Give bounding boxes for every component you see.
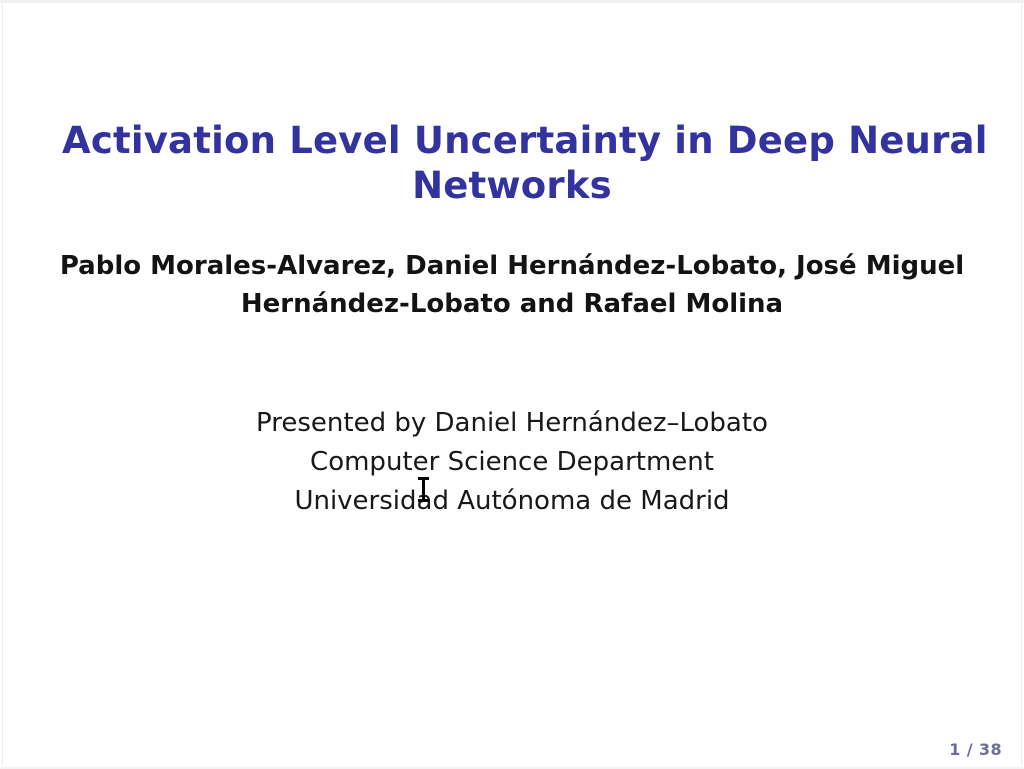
slide-top-edge xyxy=(0,0,1024,3)
slide-right-edge xyxy=(1021,3,1022,765)
slide-authors: Pablo Morales-Alvarez, Daniel Hernández-… xyxy=(32,247,992,323)
presenter-name-line: Presented by Daniel Hernández–Lobato xyxy=(112,404,912,443)
presentation-slide: Activation Level Uncertainty in Deep Neu… xyxy=(0,0,1024,769)
presenter-department-line: Computer Science Department xyxy=(112,443,912,482)
slide-title: Activation Level Uncertainty in Deep Neu… xyxy=(62,118,962,208)
page-number: 1 / 38 xyxy=(949,740,1002,759)
slide-authors-line-2: Hernández-Lobato and Rafael Molina xyxy=(32,285,992,323)
slide-title-line-1: Activation Level Uncertainty in Deep Neu… xyxy=(62,118,962,163)
presenter-university-line: Universidad Autónoma de Madrid xyxy=(112,482,912,521)
slide-title-line-2: Networks xyxy=(62,163,962,208)
slide-left-edge xyxy=(2,3,3,765)
slide-presenter-affiliation: Presented by Daniel Hernández–Lobato Com… xyxy=(112,404,912,521)
slide-authors-line-1: Pablo Morales-Alvarez, Daniel Hernández-… xyxy=(32,247,992,285)
